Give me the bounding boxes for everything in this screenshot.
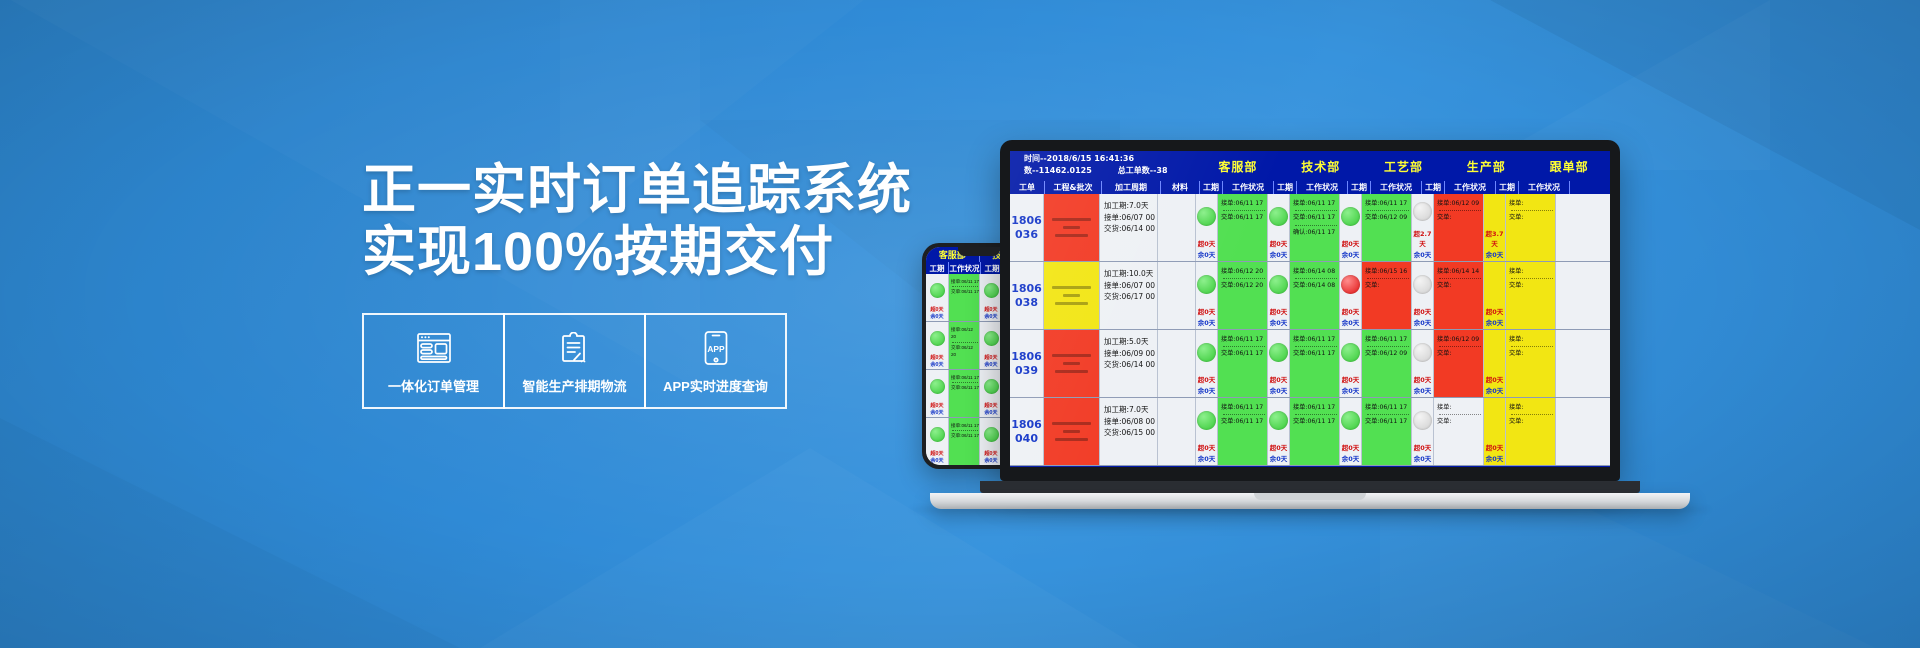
remaining-days-label: 余0天 xyxy=(1484,385,1505,397)
remaining-days-label: 余0天 xyxy=(1340,453,1361,465)
phone-status-dot xyxy=(930,331,945,346)
phone-status-dot xyxy=(984,427,999,442)
work-status-cell-0: 接单:06/12 20交单:06/12 20 xyxy=(1218,262,1268,329)
order-number-bottom: 036 xyxy=(1015,228,1038,242)
remaining-days-label: 余0天 xyxy=(1484,453,1505,465)
work-status-cell-0: 接单:06/11 17交单:06/11 17 xyxy=(1218,398,1268,465)
over-days-label: 超0天 xyxy=(1196,442,1217,453)
phone-status-line-1: 交单:06/12 20 xyxy=(951,344,979,359)
order-number-cell: 1806038 xyxy=(1010,262,1044,329)
status-separator xyxy=(1223,414,1265,415)
project-batch-cell xyxy=(1044,330,1100,397)
status-dot-green xyxy=(1269,411,1288,430)
duration-cell-1: 超0天余0天 xyxy=(1268,398,1290,465)
column-header-row: 工单工程&批次加工周期材料工期工作状况工期工作状况工期工作状况工期工作状况工期工… xyxy=(1010,181,1610,194)
remaining-days-label: 余0天 xyxy=(1340,317,1361,329)
status-dot-green xyxy=(1269,207,1288,226)
status-dot-green xyxy=(1269,343,1288,362)
phone-remaining-days: 余0天 xyxy=(926,409,948,417)
status-line-1: 交单:06/14 08 xyxy=(1293,281,1339,290)
department-header-2: 工艺部 xyxy=(1362,151,1445,181)
feature-label: APP实时进度查询 xyxy=(663,376,768,395)
work-status-cell-3: 接单:06/12 09交单: xyxy=(1434,330,1484,397)
phone-status-line-1: 交单:06/11 17 xyxy=(951,432,979,439)
phone-status-dot xyxy=(984,331,999,346)
status-line-1: 交单:06/11 17 xyxy=(1293,417,1339,426)
status-line-0: 接单: xyxy=(1509,403,1555,412)
laptop-shadow xyxy=(910,506,1710,513)
duration-cell-0: 超0天余0天 xyxy=(1196,194,1218,261)
phone-duration-cell-0: 超0天余0天 xyxy=(926,370,949,417)
phone-status-line-0: 接单:06/12 20 xyxy=(951,326,979,341)
subcolumn-4-status: 工作状况 xyxy=(1519,181,1570,194)
phone-remaining-days: 余0天 xyxy=(926,313,948,321)
status-line-1: 交单:06/12 09 xyxy=(1365,349,1411,358)
laptop-mockup: 时间--2018/6/15 16:41:36 数--11462.0125 总工单… xyxy=(1000,140,1620,509)
phone-remaining-days: 余0天 xyxy=(980,457,1002,465)
remaining-days-label: 余0天 xyxy=(1196,385,1217,397)
over-days-label: 超0天 xyxy=(1340,306,1361,317)
hero-copy: 正一实时订单追踪系统 实现100%按期交付 xyxy=(362,160,922,409)
status-dot-gray xyxy=(1413,202,1432,221)
status-line-1: 交单:06/11 17 xyxy=(1221,213,1267,222)
work-status-cell-2: 接单:06/15 16交单: xyxy=(1362,262,1412,329)
cycle-line-0: 加工期:7.0天 xyxy=(1104,200,1157,212)
duration-cell-2: 超0天余0天 xyxy=(1340,194,1362,261)
work-status-cell-1: 接单:06/11 17交单:06/11 17确认:06/11 17 xyxy=(1290,194,1340,261)
subcolumn-0-status: 工作状况 xyxy=(1223,181,1274,194)
laptop-lid: 时间--2018/6/15 16:41:36 数--11462.0125 总工单… xyxy=(1000,140,1620,481)
status-separator xyxy=(1511,278,1553,279)
subcolumn-2-duration: 工期 xyxy=(1348,181,1371,194)
status-separator xyxy=(1439,346,1481,347)
status-line-0: 接单:06/11 17 xyxy=(1221,335,1267,344)
cycle-line-2: 交货:06/15 00 xyxy=(1104,427,1157,439)
status-dot-green xyxy=(1341,343,1360,362)
phone-over-days: 超0天 xyxy=(980,354,1002,361)
status-line-0: 接单:06/11 17 xyxy=(1365,199,1411,208)
column-header-工程&批次: 工程&批次 xyxy=(1045,181,1102,194)
status-line-1: 交单:06/11 17 xyxy=(1293,213,1339,222)
headline-line-1: 正一实时订单追踪系统 xyxy=(362,160,922,222)
work-status-cell-4: 接单:交单: xyxy=(1506,262,1556,329)
phone-over-days: 超0天 xyxy=(926,306,948,313)
subcolumn-3-duration: 工期 xyxy=(1422,181,1445,194)
status-separator xyxy=(1511,346,1553,347)
over-days-label: 超3.7天 xyxy=(1484,228,1505,249)
phone-duration-cell-0: 超0天余0天 xyxy=(926,274,949,321)
status-separator xyxy=(1295,225,1337,226)
duration-cell-3: 超0天余0天 xyxy=(1412,262,1434,329)
processing-cycle-cell: 加工期:10.0天接单:06/07 00交货:06/17 00 xyxy=(1100,262,1158,329)
department-header-0: 客服部 xyxy=(1196,151,1279,181)
phone-status-cell-0: 接单:06/11 17交单:06/11 17 xyxy=(949,274,980,321)
over-days-label: 超0天 xyxy=(1340,442,1361,453)
status-separator xyxy=(1295,278,1337,279)
department-header-4: 跟单部 xyxy=(1527,151,1610,181)
status-line-0: 接单: xyxy=(1509,199,1555,208)
status-dot-wrap xyxy=(1268,262,1289,306)
status-separator xyxy=(1295,414,1337,415)
dashboard-row-list: 1806036加工期:7.0天接单:06/07 00交货:06/14 00超0天… xyxy=(1010,194,1610,466)
column-header-工单: 工单 xyxy=(1010,181,1045,194)
feature-box-group: 一体化订单管理 智能生产排期物流 xyxy=(362,313,922,409)
phone-status-separator xyxy=(952,382,978,383)
status-line-0: 接单:06/11 17 xyxy=(1365,403,1411,412)
status-line-0: 接单:06/12 20 xyxy=(1221,267,1267,276)
department-header-3: 生产部 xyxy=(1444,151,1527,181)
order-number-top: 1806 xyxy=(1011,214,1042,228)
subcolumn-4-duration: 工期 xyxy=(1496,181,1519,194)
dashboard-number-row: 数--11462.0125 总工单数--38 xyxy=(1024,165,1196,177)
work-status-cell-2: 接单:06/11 17交单:06/11 17 xyxy=(1362,398,1412,465)
over-days-label: 超0天 xyxy=(1484,442,1505,453)
remaining-days-label: 余0天 xyxy=(1340,249,1361,261)
clipboard-pencil-icon xyxy=(560,327,590,369)
table-row[interactable]: 1806038加工期:10.0天接单:06/07 00交货:06/17 00超0… xyxy=(1010,262,1610,330)
subcolumn-0-duration: 工期 xyxy=(1200,181,1223,194)
department-header-row: 客服部技术部工艺部生产部跟单部 xyxy=(1196,151,1610,181)
duration-cell-2: 超0天余0天 xyxy=(1340,330,1362,397)
status-dot-green xyxy=(1269,275,1288,294)
laptop-screen[interactable]: 时间--2018/6/15 16:41:36 数--11462.0125 总工单… xyxy=(1010,151,1610,467)
cycle-line-0: 加工期:10.0天 xyxy=(1104,268,1157,280)
status-dot-green xyxy=(1197,343,1216,362)
status-separator xyxy=(1439,414,1481,415)
duration-cell-3: 超0天余0天 xyxy=(1412,398,1434,465)
order-number-bottom: 039 xyxy=(1015,364,1038,378)
cycle-line-2: 交货:06/14 00 xyxy=(1104,359,1157,371)
phone-status-line-1: 交单:06/11 17 xyxy=(951,384,979,391)
phone-col-status-0: 工作状况 xyxy=(949,262,981,274)
duration-cell-4: 超0天余0天 xyxy=(1484,262,1506,329)
status-line-0: 接单:06/11 17 xyxy=(1293,335,1339,344)
material-cell xyxy=(1158,330,1196,397)
dashboard-header: 时间--2018/6/15 16:41:36 数--11462.0125 总工单… xyxy=(1010,151,1610,181)
work-status-cell-4: 接单:交单: xyxy=(1506,330,1556,397)
status-line-0: 接单:06/11 17 xyxy=(1221,403,1267,412)
order-number-top: 1806 xyxy=(1011,282,1042,296)
status-dot-wrap xyxy=(1196,262,1217,306)
work-status-cell-4: 接单:交单: xyxy=(1506,398,1556,465)
duration-cell-4: 超0天余0天 xyxy=(1484,330,1506,397)
cycle-line-0: 加工期:5.0天 xyxy=(1104,336,1157,348)
work-status-cell-2: 接单:06/11 17交单:06/12 09 xyxy=(1362,330,1412,397)
duration-cell-2: 超0天余0天 xyxy=(1340,398,1362,465)
status-dot-wrap xyxy=(1196,398,1217,442)
phone-remaining-days: 余0天 xyxy=(926,361,948,369)
total-value: 38 xyxy=(1156,166,1167,175)
phone-app-icon: APP xyxy=(704,327,728,369)
status-line-0: 接单:06/14 14 xyxy=(1437,267,1483,276)
status-dot-wrap xyxy=(1196,330,1217,374)
svg-text:APP: APP xyxy=(707,344,725,354)
over-days-label: 超0天 xyxy=(1412,442,1433,453)
status-dot-gray xyxy=(1413,411,1432,430)
status-line-0: 接单: xyxy=(1437,403,1483,412)
phone-duration-cell-0: 超0天余0天 xyxy=(926,322,949,369)
status-line-1: 交单:06/11 17 xyxy=(1221,417,1267,426)
project-batch-cell xyxy=(1044,262,1100,329)
table-row[interactable]: 1806036加工期:7.0天接单:06/07 00交货:06/14 00超0天… xyxy=(1010,194,1610,262)
status-dot-wrap xyxy=(1340,330,1361,374)
order-number-cell: 1806040 xyxy=(1010,398,1044,465)
remaining-days-label: 余0天 xyxy=(1196,453,1217,465)
phone-status-line-0: 接单:06/11 17 xyxy=(951,278,979,285)
status-dot-wrap xyxy=(1340,262,1361,306)
project-batch-cell xyxy=(1044,194,1100,261)
processing-cycle-cell: 加工期:7.0天接单:06/08 00交货:06/15 00 xyxy=(1100,398,1158,465)
status-separator xyxy=(1367,346,1409,347)
material-cell xyxy=(1158,262,1196,329)
work-status-cell-1: 接单:06/14 08交单:06/14 08 xyxy=(1290,262,1340,329)
cycle-line-2: 交货:06/17 00 xyxy=(1104,291,1157,303)
over-days-label: 超0天 xyxy=(1340,238,1361,249)
duration-cell-1: 超0天余0天 xyxy=(1268,194,1290,261)
order-number-top: 1806 xyxy=(1011,418,1042,432)
dashboard-time-row: 时间--2018/6/15 16:41:36 xyxy=(1024,153,1196,165)
over-days-label: 超0天 xyxy=(1196,306,1217,317)
status-line-0: 接单:06/14 08 xyxy=(1293,267,1339,276)
remaining-days-label: 余0天 xyxy=(1268,317,1289,329)
material-cell xyxy=(1158,194,1196,261)
status-dot-wrap xyxy=(1412,262,1433,306)
work-status-cell-2: 接单:06/11 17交单:06/12 09 xyxy=(1362,194,1412,261)
remaining-days-label: 余0天 xyxy=(1412,249,1433,261)
phone-remaining-days: 余0天 xyxy=(980,313,1002,321)
phone-status-dot xyxy=(930,427,945,442)
cycle-line-1: 接单:06/08 00 xyxy=(1104,416,1157,428)
phone-over-days: 超0天 xyxy=(926,354,948,361)
project-batch-cell xyxy=(1044,398,1100,465)
status-separator xyxy=(1295,210,1337,211)
status-line-1: 交单:06/11 17 xyxy=(1293,349,1339,358)
status-separator xyxy=(1223,346,1265,347)
order-number-top: 1806 xyxy=(1011,350,1042,364)
status-dot-wrap xyxy=(1484,398,1505,442)
status-line-1: 交单:06/11 17 xyxy=(1365,417,1411,426)
dashboard[interactable]: 时间--2018/6/15 16:41:36 数--11462.0125 总工单… xyxy=(1010,151,1610,467)
subcolumn-1-status: 工作状况 xyxy=(1297,181,1348,194)
duration-cell-4: 超3.7天余0天 xyxy=(1484,194,1506,261)
work-status-cell-4: 接单:交单: xyxy=(1506,194,1556,261)
status-dot-gray xyxy=(1413,343,1432,362)
status-line-1: 交单:06/12 09 xyxy=(1365,213,1411,222)
work-status-cell-0: 接单:06/11 17交单:06/11 17 xyxy=(1218,194,1268,261)
status-dot-wrap xyxy=(1412,194,1433,228)
time-label: 时间-- xyxy=(1024,154,1047,163)
status-dot-gray xyxy=(1413,275,1432,294)
number-value: 11462.0125 xyxy=(1039,166,1092,175)
status-dot-green xyxy=(1197,207,1216,226)
feature-box-order-management[interactable]: 一体化订单管理 xyxy=(362,313,505,409)
phone-status-separator xyxy=(952,430,978,431)
phone-status-separator xyxy=(952,286,978,287)
status-separator xyxy=(1367,278,1409,279)
laptop-hinge xyxy=(980,481,1640,493)
phone-over-days: 超0天 xyxy=(926,402,948,409)
number-label: 数-- xyxy=(1024,166,1039,175)
subcolumn-3-status: 工作状况 xyxy=(1445,181,1496,194)
phone-over-days: 超0天 xyxy=(980,306,1002,313)
status-line-0: 接单:06/11 17 xyxy=(1293,199,1339,208)
work-status-cell-3: 接单:06/12 09交单: xyxy=(1434,194,1484,261)
phone-duration-cell-0: 超0天余0天 xyxy=(926,418,949,465)
cycle-line-0: 加工期:7.0天 xyxy=(1104,404,1157,416)
duration-cell-1: 超0天余0天 xyxy=(1268,262,1290,329)
phone-status-line-0: 接单:06/11 17 xyxy=(951,374,979,381)
remaining-days-label: 余0天 xyxy=(1268,453,1289,465)
remaining-days-label: 余0天 xyxy=(1340,385,1361,397)
processing-cycle-cell: 加工期:5.0天接单:06/09 00交货:06/14 00 xyxy=(1100,330,1158,397)
status-line-0: 接单: xyxy=(1509,335,1555,344)
over-days-label: 超0天 xyxy=(1268,238,1289,249)
phone-over-days: 超0天 xyxy=(980,450,1002,457)
remaining-days-label: 余0天 xyxy=(1412,385,1433,397)
duration-cell-1: 超0天余0天 xyxy=(1268,330,1290,397)
status-dot-red xyxy=(1341,275,1360,294)
status-separator xyxy=(1223,210,1265,211)
phone-remaining-days: 余0天 xyxy=(980,361,1002,369)
window-list-icon xyxy=(417,327,451,369)
status-dot-wrap xyxy=(1484,262,1505,306)
status-separator xyxy=(1367,210,1409,211)
cycle-line-1: 接单:06/09 00 xyxy=(1104,348,1157,360)
feature-label: 一体化订单管理 xyxy=(388,376,479,395)
phone-remaining-days: 余0天 xyxy=(926,457,948,465)
feature-box-production-scheduling[interactable]: 智能生产排期物流 xyxy=(503,313,646,409)
time-value: 2018/6/15 16:41:36 xyxy=(1047,154,1134,163)
feature-box-app-progress[interactable]: APP APP实时进度查询 xyxy=(644,313,787,409)
duration-cell-3: 超0天余0天 xyxy=(1412,330,1434,397)
remaining-days-label: 余0天 xyxy=(1484,317,1505,329)
status-line-1: 交单: xyxy=(1509,417,1555,426)
status-dot-wrap xyxy=(1412,330,1433,374)
phone-status-dot xyxy=(984,379,999,394)
status-dot-wrap xyxy=(1340,194,1361,238)
over-days-label: 超0天 xyxy=(1196,374,1217,385)
phone-status-dot xyxy=(930,379,945,394)
status-line-0: 接单: xyxy=(1509,267,1555,276)
remaining-days-label: 余0天 xyxy=(1412,317,1433,329)
order-number-cell: 1806036 xyxy=(1010,194,1044,261)
status-dot-green xyxy=(1197,411,1216,430)
over-days-label: 超0天 xyxy=(1412,374,1433,385)
cycle-line-1: 接单:06/07 00 xyxy=(1104,212,1157,224)
over-days-label: 超0天 xyxy=(1196,238,1217,249)
duration-cell-0: 超0天余0天 xyxy=(1196,262,1218,329)
phone-over-days: 超0天 xyxy=(926,450,948,457)
headline-line-2: 实现100%按期交付 xyxy=(362,222,922,284)
over-days-label: 超0天 xyxy=(1340,374,1361,385)
subcolumn-1-duration: 工期 xyxy=(1274,181,1297,194)
status-line-1: 交单: xyxy=(1437,213,1483,222)
work-status-cell-1: 接单:06/11 17交单:06/11 17 xyxy=(1290,398,1340,465)
status-dot-wrap xyxy=(1484,194,1505,228)
remaining-days-label: 余0天 xyxy=(1268,385,1289,397)
over-days-label: 超0天 xyxy=(1268,374,1289,385)
over-days-label: 超0天 xyxy=(1484,306,1505,317)
phone-status-separator xyxy=(952,342,978,343)
status-separator xyxy=(1439,210,1481,211)
order-number-bottom: 040 xyxy=(1015,432,1038,446)
phone-remaining-days: 余0天 xyxy=(980,409,1002,417)
remaining-days-label: 余0天 xyxy=(1268,249,1289,261)
status-line-2: 确认:06/11 17 xyxy=(1293,228,1339,237)
material-cell xyxy=(1158,398,1196,465)
status-dot-wrap xyxy=(1340,398,1361,442)
order-number-bottom: 038 xyxy=(1015,296,1038,310)
phone-status-cell-0: 接单:06/11 17交单:06/11 17 xyxy=(949,370,980,417)
column-header-加工周期: 加工周期 xyxy=(1102,181,1161,194)
phone-over-days: 超0天 xyxy=(980,402,1002,409)
department-header-1: 技术部 xyxy=(1279,151,1362,181)
over-days-label: 超2.7天 xyxy=(1412,228,1433,249)
work-status-cell-1: 接单:06/11 17交单:06/11 17 xyxy=(1290,330,1340,397)
cycle-line-1: 接单:06/07 00 xyxy=(1104,280,1157,292)
phone-status-line-0: 接单:06/11 17 xyxy=(951,422,979,429)
total-label: 总工单数-- xyxy=(1118,166,1157,175)
status-line-1: 交单: xyxy=(1509,281,1555,290)
processing-cycle-cell: 加工期:7.0天接单:06/07 00交货:06/14 00 xyxy=(1100,194,1158,261)
table-row[interactable]: 1806039加工期:5.0天接单:06/09 00交货:06/14 00超0天… xyxy=(1010,330,1610,398)
status-separator xyxy=(1439,278,1481,279)
work-status-cell-3: 接单:06/14 14交单: xyxy=(1434,262,1484,329)
status-line-0: 接单:06/12 09 xyxy=(1437,199,1483,208)
phone-status-dot xyxy=(930,283,945,298)
status-line-0: 接单:06/11 17 xyxy=(1221,199,1267,208)
status-dot-wrap xyxy=(1196,194,1217,238)
phone-status-line-1: 交单:06/11 17 xyxy=(951,288,979,295)
dashboard-info: 时间--2018/6/15 16:41:36 数--11462.0125 总工单… xyxy=(1010,151,1196,181)
phone-status-cell-0: 接单:06/12 20交单:06/12 20 xyxy=(949,322,980,369)
over-days-label: 超0天 xyxy=(1412,306,1433,317)
subcolumn-2-status: 工作状况 xyxy=(1371,181,1422,194)
status-line-1: 交单: xyxy=(1437,417,1483,426)
remaining-days-label: 余0天 xyxy=(1196,249,1217,261)
duration-cell-2: 超0天余0天 xyxy=(1340,262,1362,329)
laptop-trackpad-notch xyxy=(1254,493,1366,500)
status-dot-green xyxy=(1341,411,1360,430)
over-days-label: 超0天 xyxy=(1484,374,1505,385)
status-dot-wrap xyxy=(1268,330,1289,374)
status-line-0: 接单:06/11 17 xyxy=(1365,335,1411,344)
remaining-days-label: 余0天 xyxy=(1484,249,1505,261)
status-line-1: 交单: xyxy=(1437,281,1483,290)
work-status-cell-0: 接单:06/11 17交单:06/11 17 xyxy=(1218,330,1268,397)
status-line-1: 交单: xyxy=(1509,213,1555,222)
banner-stage: 正一实时订单追踪系统 实现100%按期交付 xyxy=(0,0,1920,648)
status-line-1: 交单: xyxy=(1437,349,1483,358)
duration-cell-0: 超0天余0天 xyxy=(1196,398,1218,465)
phone-notch xyxy=(958,247,1000,256)
status-separator xyxy=(1295,346,1337,347)
remaining-days-label: 余0天 xyxy=(1412,453,1433,465)
duration-cell-0: 超0天余0天 xyxy=(1196,330,1218,397)
feature-label: 智能生产排期物流 xyxy=(522,376,626,395)
status-dot-wrap xyxy=(1268,194,1289,238)
status-separator xyxy=(1367,414,1409,415)
table-row[interactable]: 1806040加工期:7.0天接单:06/08 00交货:06/15 00超0天… xyxy=(1010,398,1610,466)
status-line-0: 接单:06/15 16 xyxy=(1365,267,1411,276)
order-number-cell: 1806039 xyxy=(1010,330,1044,397)
phone-status-dot xyxy=(984,283,999,298)
status-dot-green xyxy=(1197,275,1216,294)
status-line-0: 接单:06/11 17 xyxy=(1293,403,1339,412)
status-separator xyxy=(1511,414,1553,415)
phone-status-cell-0: 接单:06/11 17交单:06/11 17 xyxy=(949,418,980,465)
status-line-1: 交单:06/11 17 xyxy=(1221,349,1267,358)
